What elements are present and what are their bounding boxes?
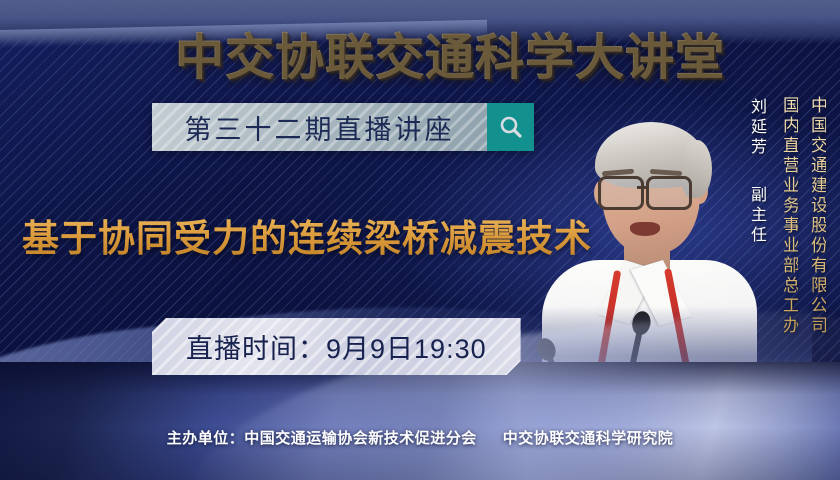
search-icon	[498, 114, 524, 140]
live-lecture-poster: 中交协联交通科学大讲堂 第三十二期直播讲座 基于协同受力的连续梁桥减震技术 直播…	[0, 0, 840, 480]
speaker-name: 刘延芳	[747, 98, 764, 158]
broadcast-time-label: 直播时间：9月9日19:30	[186, 334, 487, 364]
lecture-topic: 基于协同受力的连续梁桥减震技术	[22, 208, 592, 262]
footer-organizer-1: 中国交通运输协会新技术促进分会	[244, 430, 477, 447]
page-title: 中交协联交通科学大讲堂	[0, 18, 840, 89]
speaker-position: 副主任	[747, 186, 764, 246]
speaker-glasses-bridge	[637, 186, 648, 189]
footer-prefix: 主办单位：	[167, 430, 245, 447]
episode-label: 第三十二期直播讲座	[185, 108, 455, 147]
search-button[interactable]	[487, 103, 534, 151]
footer-organizer-2: 中交协联交通科学研究院	[503, 430, 674, 447]
episode-banner[interactable]: 第三十二期直播讲座	[152, 103, 534, 151]
speaker-glasses-left	[598, 176, 644, 210]
episode-banner-body: 第三十二期直播讲座	[152, 103, 487, 151]
broadcast-time-badge: 直播时间：9月9日19:30	[152, 318, 521, 375]
footer-organizers: 主办单位：中国交通运输协会新技术促进分会中交协联交通科学研究院	[0, 427, 840, 448]
speaker-organization-line-1: 中国交通建设股份有限公司	[808, 96, 826, 336]
speaker-organization-line-2: 国内直营业务事业部总工办	[780, 96, 798, 336]
speaker-glasses-right	[646, 176, 692, 210]
speaker-mouth	[630, 222, 660, 236]
